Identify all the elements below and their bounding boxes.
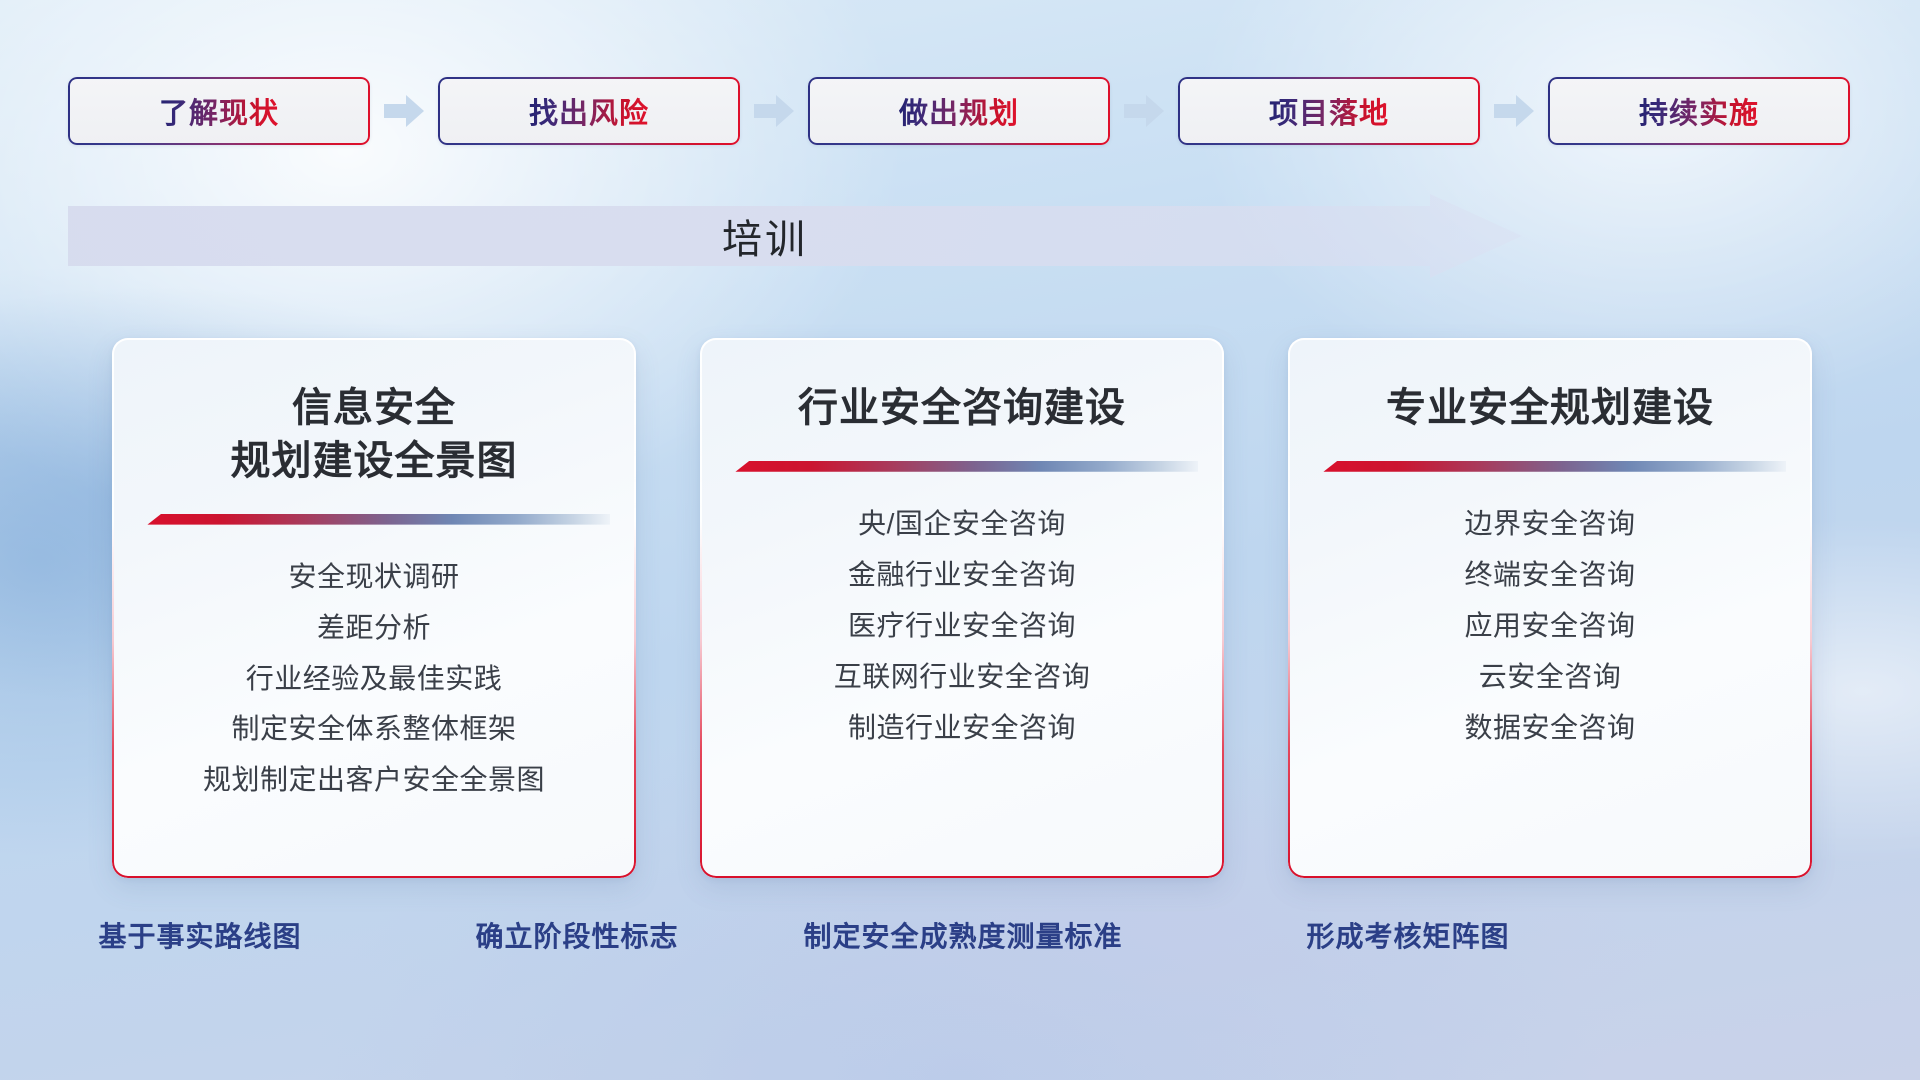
- service-card-title: 专业安全规划建设: [1386, 382, 1714, 435]
- service-card[interactable]: 专业安全规划建设边界安全咨询终端安全咨询应用安全咨询云安全咨询数据安全咨询: [1288, 338, 1812, 878]
- service-card-divider: [138, 514, 610, 525]
- arrow-right-icon: [740, 94, 808, 128]
- process-step-label: 做出规划: [899, 90, 1019, 132]
- arrow-right-icon: [1110, 94, 1178, 128]
- arrow-right-icon: [1480, 94, 1548, 128]
- list-item: 终端安全咨询: [1464, 557, 1635, 594]
- infographic-canvas: 了解现状找出风险做出规划项目落地持续实施 培训 信息安全 规划建设全景图安全现状…: [0, 0, 1920, 1080]
- process-step-chip[interactable]: 项目落地: [1178, 77, 1480, 145]
- list-item: 云安全咨询: [1479, 659, 1622, 696]
- banner-title: 培训: [68, 194, 1522, 278]
- outcome-caption: 制定安全成熟度测量标准: [803, 915, 1122, 955]
- list-item: 数据安全咨询: [1464, 710, 1635, 747]
- process-step-label: 找出风险: [529, 90, 649, 132]
- service-card-divider-bar: [147, 514, 610, 525]
- list-item: 规划制定出客户安全全景图: [203, 762, 545, 799]
- bottom-captions-row: 基于事实路线图确立阶段性标志制定安全成熟度测量标准形成考核矩阵图: [0, 915, 1920, 971]
- list-item: 医疗行业安全咨询: [848, 608, 1076, 645]
- service-cards-row: 信息安全 规划建设全景图安全现状调研差距分析行业经验及最佳实践制定安全体系整体框…: [112, 338, 1812, 878]
- list-item: 制定安全体系整体框架: [231, 711, 516, 748]
- service-card-body: 专业安全规划建设边界安全咨询终端安全咨询应用安全咨询云安全咨询数据安全咨询: [1288, 338, 1812, 878]
- process-step-chip[interactable]: 持续实施: [1548, 77, 1850, 145]
- outcome-caption: 基于事实路线图: [98, 915, 301, 955]
- outcome-caption: 确立阶段性标志: [475, 915, 678, 955]
- service-card-body: 行业安全咨询建设央/国企安全咨询金融行业安全咨询医疗行业安全咨询互联网行业安全咨…: [700, 338, 1224, 878]
- arrow-right-icon: [370, 94, 438, 128]
- process-steps-row: 了解现状找出风险做出规划项目落地持续实施: [68, 76, 1858, 146]
- list-item: 互联网行业安全咨询: [834, 659, 1091, 696]
- list-item: 行业经验及最佳实践: [246, 661, 503, 698]
- outcome-caption: 形成考核矩阵图: [1306, 915, 1509, 955]
- list-item: 边界安全咨询: [1464, 506, 1635, 543]
- service-card[interactable]: 信息安全 规划建设全景图安全现状调研差距分析行业经验及最佳实践制定安全体系整体框…: [112, 338, 636, 878]
- service-card-list: 安全现状调研差距分析行业经验及最佳实践制定安全体系整体框架规划制定出客户安全全景…: [203, 559, 545, 800]
- service-card-list: 边界安全咨询终端安全咨询应用安全咨询云安全咨询数据安全咨询: [1464, 506, 1635, 747]
- service-card-list: 央/国企安全咨询金融行业安全咨询医疗行业安全咨询互联网行业安全咨询制造行业安全咨…: [834, 506, 1091, 747]
- service-card-divider-bar: [1323, 461, 1786, 472]
- process-step-chip[interactable]: 找出风险: [438, 77, 740, 145]
- service-card-body: 信息安全 规划建设全景图安全现状调研差距分析行业经验及最佳实践制定安全体系整体框…: [112, 338, 636, 878]
- service-card[interactable]: 行业安全咨询建设央/国企安全咨询金融行业安全咨询医疗行业安全咨询互联网行业安全咨…: [700, 338, 1224, 878]
- process-step-label: 持续实施: [1639, 90, 1759, 132]
- list-item: 差距分析: [317, 610, 431, 647]
- service-card-divider: [726, 461, 1198, 472]
- list-item: 金融行业安全咨询: [848, 557, 1076, 594]
- process-step-chip[interactable]: 了解现状: [68, 77, 370, 145]
- service-card-title: 信息安全 规划建设全景图: [231, 382, 518, 488]
- service-card-title: 行业安全咨询建设: [798, 382, 1126, 435]
- list-item: 应用安全咨询: [1464, 608, 1635, 645]
- training-banner: 培训: [68, 194, 1522, 278]
- service-card-divider-bar: [735, 461, 1198, 472]
- process-step-chip[interactable]: 做出规划: [808, 77, 1110, 145]
- process-step-label: 了解现状: [159, 90, 279, 132]
- list-item: 央/国企安全咨询: [858, 506, 1066, 543]
- service-card-divider: [1314, 461, 1786, 472]
- process-step-label: 项目落地: [1269, 90, 1389, 132]
- list-item: 安全现状调研: [288, 559, 459, 596]
- list-item: 制造行业安全咨询: [848, 710, 1076, 747]
